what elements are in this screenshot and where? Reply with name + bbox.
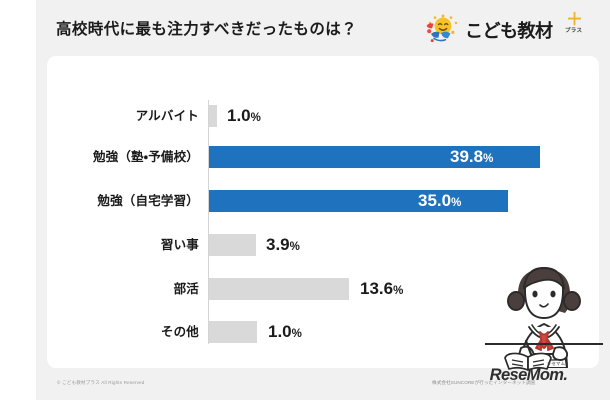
bar-label: 部活 [47, 277, 199, 301]
bar-value-number: 1.0 [268, 322, 292, 341]
percent-sign: % [393, 285, 403, 297]
percent-sign: % [251, 112, 261, 124]
bar-sonota [209, 321, 257, 343]
bar-naraigoto [209, 234, 256, 256]
bar-value: 13.6% [360, 277, 403, 301]
percent-sign: % [292, 328, 302, 340]
brand-plus-label: プラス [565, 26, 582, 34]
bar-value: 1.0% [268, 320, 302, 344]
bar-label: 勉強（塾・予備校） [47, 145, 199, 169]
chart-row: 勉強（自宅学習） 35.0% [47, 189, 599, 213]
brand-logo[interactable]: こども教材 ＋ プラス [424, 9, 599, 49]
brand-name: こども教材 [465, 17, 553, 43]
chart-card: アルバイト 1.0% 勉強（塾・予備校） 39.8% 勉強（自宅学習） 35 [47, 56, 599, 368]
chart-axis [208, 100, 209, 344]
bar-value-number: 1.0 [227, 106, 251, 125]
bar-value: 35.0% [418, 189, 461, 213]
bar-value: 3.9% [266, 233, 300, 257]
bar-value-number: 35.0 [418, 191, 451, 210]
bar-value: 1.0% [227, 104, 261, 128]
percent-sign: % [451, 197, 461, 209]
bar-label: その他 [47, 320, 199, 344]
sun-hands-icon [424, 12, 462, 46]
chart-row: アルバイト 1.0% [47, 104, 599, 128]
watermark-text: ReseMom. [471, 366, 586, 385]
copyright-text: © こども教材プラス All Rights Reserved [57, 380, 144, 386]
bar-value-number: 39.8 [450, 147, 483, 166]
horizontal-bar-chart: アルバイト 1.0% 勉強（塾・予備校） 39.8% 勉強（自宅学習） 35 [47, 56, 599, 368]
page-title: 高校時代に最も注力すべきだったものは？ [56, 17, 357, 39]
bar-bukatsu [209, 278, 349, 300]
bar-label: 習い事 [47, 233, 199, 257]
infographic-screen: 高校時代に最も注力すべきだったものは？ [0, 0, 610, 400]
resemom-watermark: リセマム ReseMom. [471, 352, 586, 386]
bar-value-number: 13.6 [360, 279, 393, 298]
schoolgirl-writing-illustration [485, 252, 603, 368]
bar-label: 勉強（自宅学習） [47, 189, 199, 213]
bar-jitaku [209, 190, 508, 212]
brand-plus-mark: ＋ プラス [564, 11, 590, 41]
bar-label: アルバイト [47, 104, 199, 128]
bar-value: 39.8% [450, 145, 493, 169]
chart-row: 勉強（塾・予備校） 39.8% [47, 145, 599, 169]
bar-alubaito [209, 105, 217, 127]
percent-sign: % [483, 153, 493, 165]
bar-value-number: 3.9 [266, 235, 290, 254]
header: 高校時代に最も注力すべきだったものは？ [36, 0, 610, 56]
percent-sign: % [290, 241, 300, 253]
